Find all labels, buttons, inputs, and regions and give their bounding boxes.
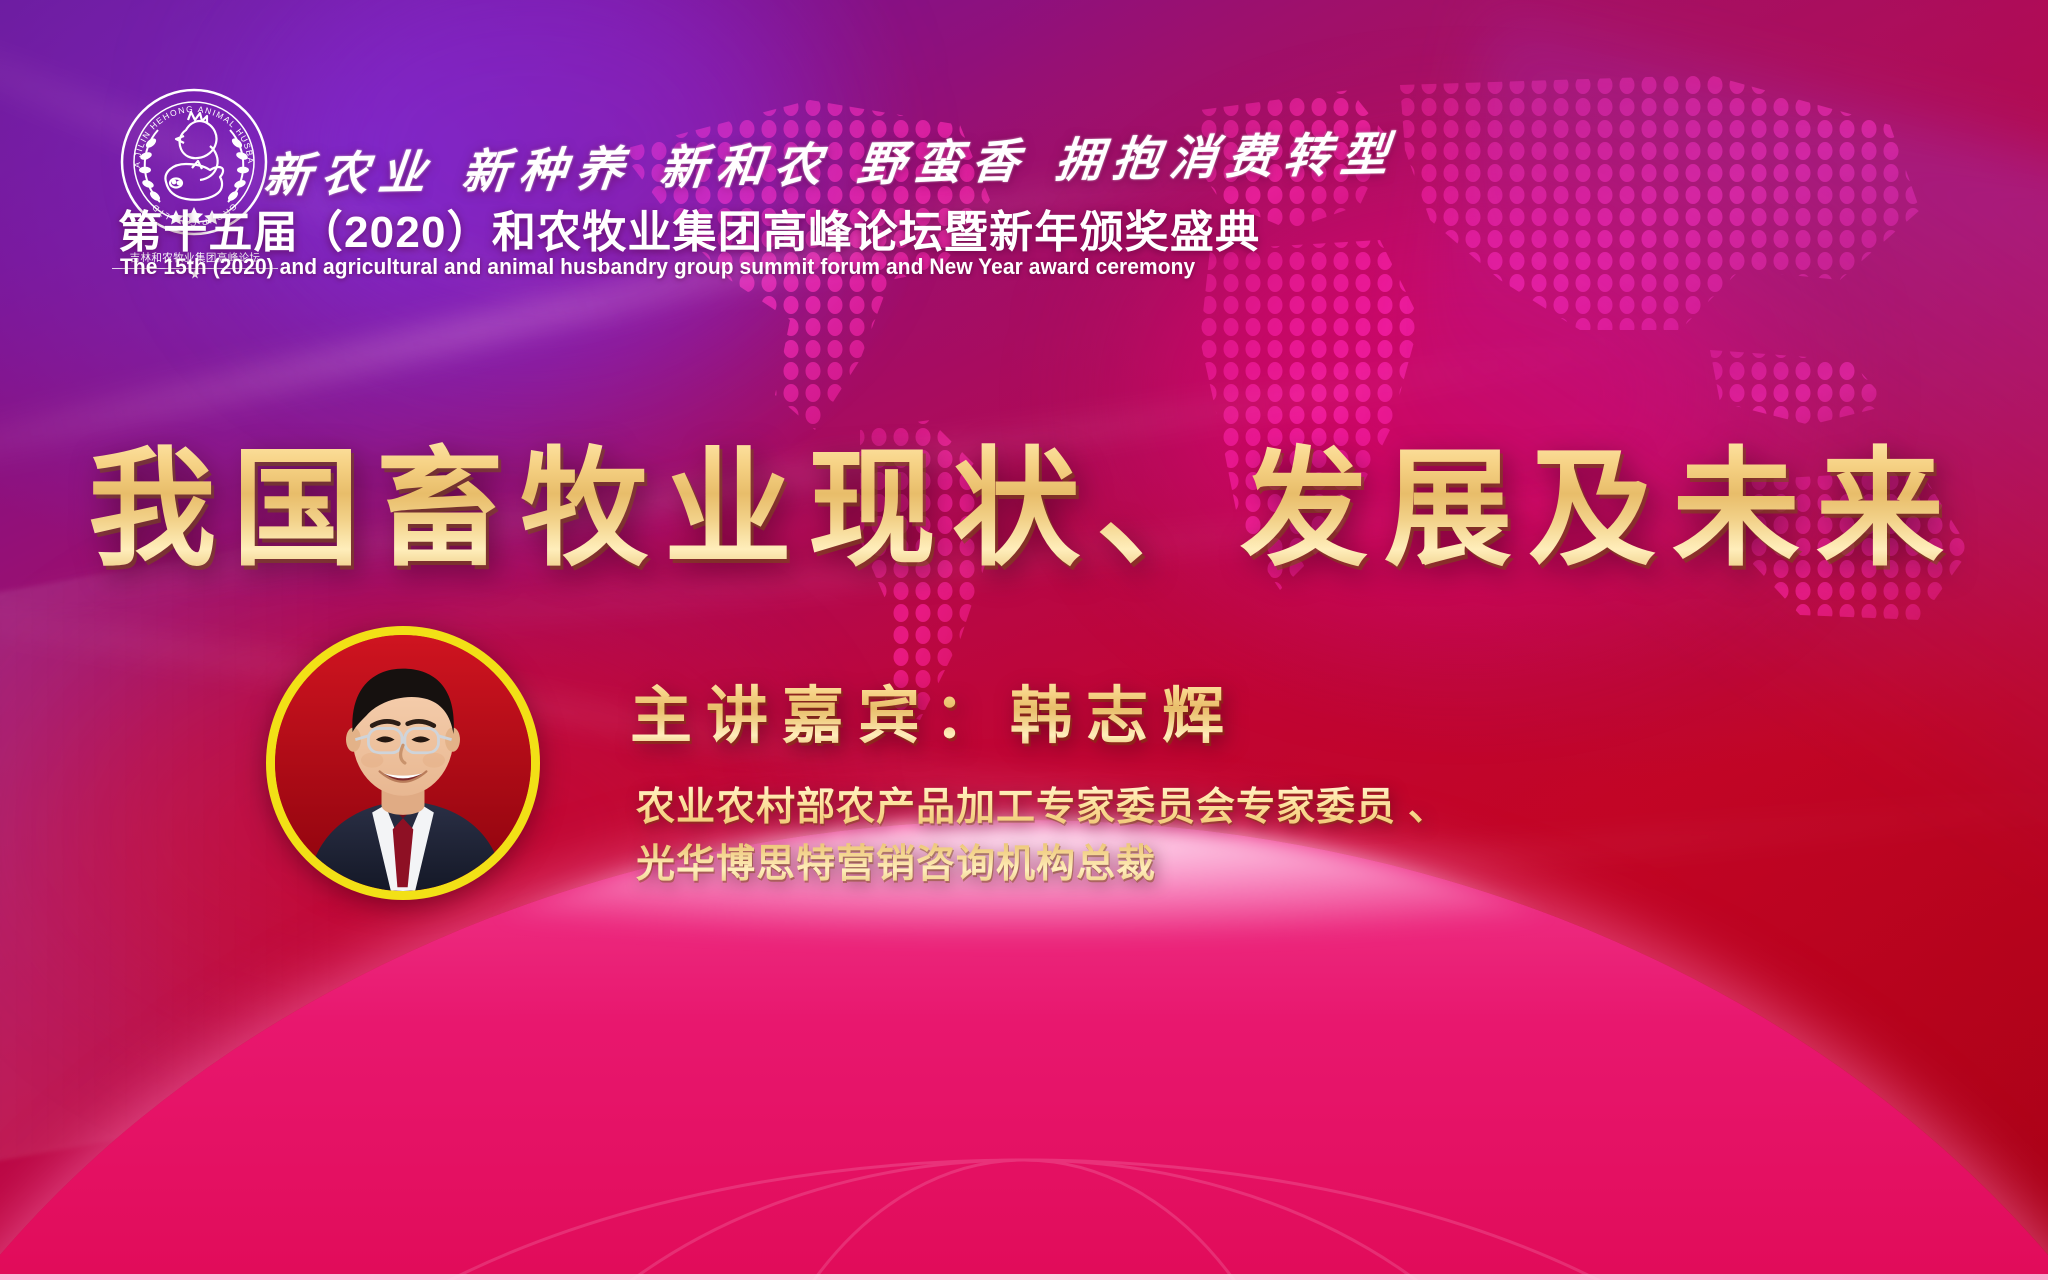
credential-line: 农业农村部农产品加工专家委员会专家委员 、 — [636, 780, 1448, 835]
event-title-cn: 第十五届（2020）和农牧业集团高峰论坛暨新年颁奖盛典 — [118, 196, 1260, 260]
credential-line: 光华博思特营销咨询机构总裁 — [636, 837, 1448, 892]
bottom-bar — [0, 1274, 2048, 1280]
page-title: 我国畜牧业现状、发展及未来 — [0, 405, 2048, 590]
speaker-name: 主讲嘉宾：韩志辉 — [630, 665, 1238, 755]
avatar — [266, 626, 540, 900]
event-title-en: The 15th (2020) and agricultural and ani… — [120, 254, 1195, 280]
speaker-credentials: 农业农村部农产品加工专家委员会专家委员 、 光华博思特营销咨询机构总裁 — [636, 780, 1448, 895]
banner-stage: CHINA JILIN HEHONG ANIMAL HUSBANDRY GROU… — [0, 0, 2048, 1280]
speaker-portrait-icon — [275, 635, 531, 891]
